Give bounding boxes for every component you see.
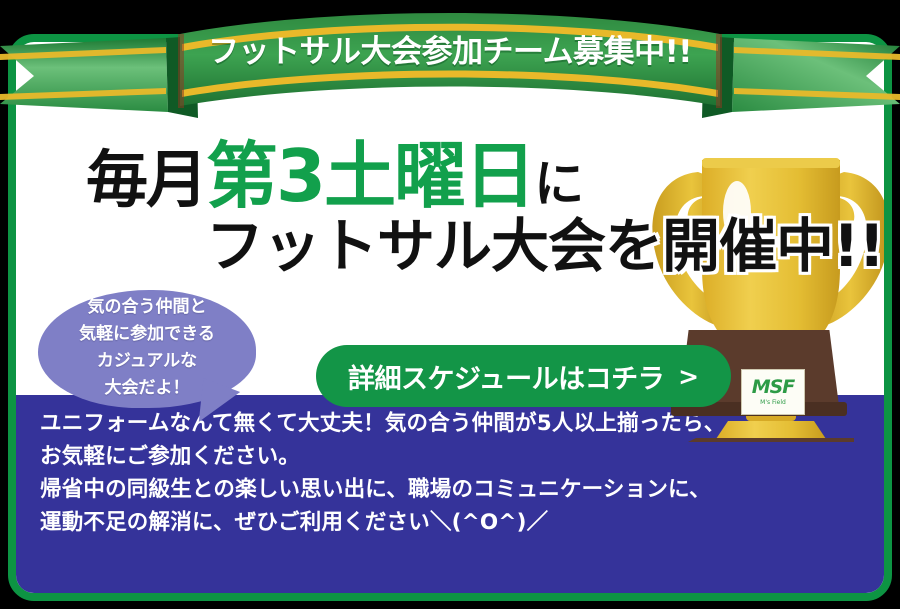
info-line-2: お気軽にご参加ください。 — [40, 440, 870, 473]
info-line-4: 運動不足の解消に、ぜひご利用ください＼(^O^)／ — [40, 506, 870, 539]
info-line-3: 帰省中の同級生との楽しい思い出に、職場のコミュニケーションに、 — [40, 473, 870, 506]
bubble-line-1: 気の合う仲間と — [38, 294, 256, 321]
trophy-rim — [702, 158, 840, 168]
promo-banner: 毎月第3土曜日に フットサル大会を開催中!! — [0, 0, 900, 609]
headline-line-1: 毎月第3土曜日に — [86, 140, 582, 212]
bubble-line-2: 気軽に参加できる — [38, 321, 256, 348]
banner-card: 毎月第3土曜日に フットサル大会を開催中!! — [8, 34, 892, 601]
headline-highlight: 第3土曜日 — [206, 134, 534, 218]
schedule-details-button[interactable]: 詳細スケジュールはコチラ > — [316, 345, 731, 407]
trophy-pedestal — [716, 421, 826, 439]
chevron-right-icon: > — [678, 362, 699, 391]
msf-logo-text: MSF — [752, 378, 795, 397]
cta-label: 詳細スケジュールはコチラ — [348, 357, 664, 396]
bubble-line-3: カジュアルな — [38, 348, 256, 375]
speech-bubble-text: 気の合う仲間と 気軽に参加できる カジュアルな 大会だよ！ — [38, 294, 256, 402]
headline-line-2: フットサル大会を開催中!! — [206, 217, 884, 275]
headline-prefix: 毎月 — [86, 143, 206, 216]
trophy-logo-plaque: MSF M's Field — [741, 369, 805, 415]
bubble-line-4: 大会だよ！ — [38, 375, 256, 402]
trophy-base-top — [688, 438, 854, 442]
headline-suffix: に — [534, 155, 582, 213]
msf-logo-subtext: M's Field — [760, 399, 786, 407]
